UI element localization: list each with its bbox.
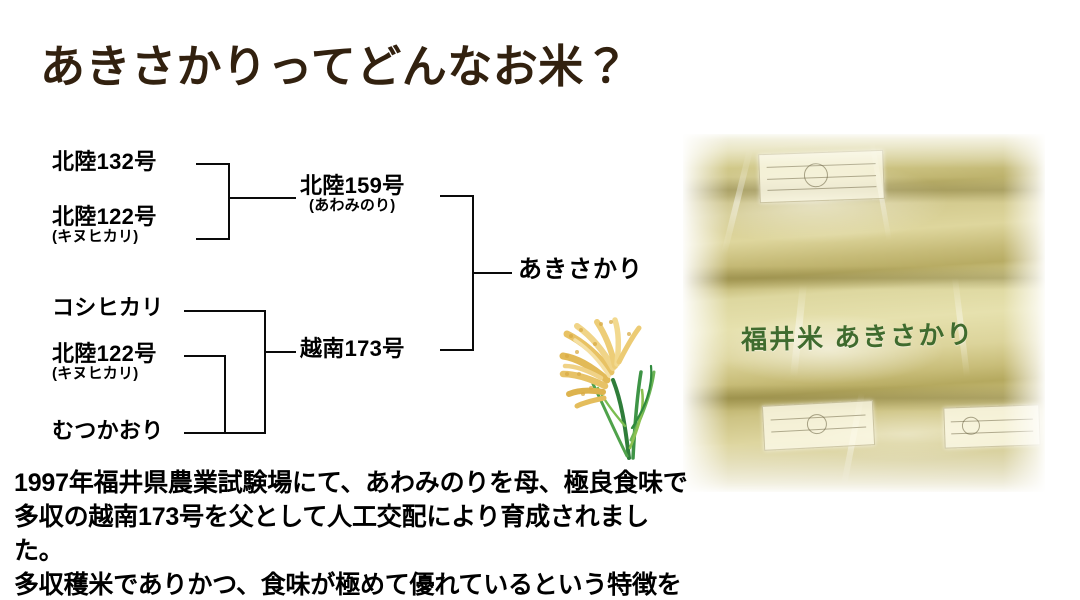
bracket2-spine	[224, 355, 226, 434]
pedigree-node-hokuriku122-bottom: 北陸122号 (キヌヒカリ)	[52, 342, 157, 382]
bracket2-arm-top	[184, 355, 226, 357]
description-text: 1997年福井県農業試験場にて、あわみのりを母、極良食味で 多収の越南173号を…	[14, 466, 694, 600]
bracket1-spine	[228, 163, 230, 240]
pedigree-node-hokuriku122-top: 北陸122号 (キヌヒカリ)	[52, 205, 157, 245]
node-name: 北陸122号	[52, 205, 157, 228]
bracket1-stem	[228, 197, 296, 199]
page-title: あきさかりってどんなお米？	[40, 42, 629, 92]
bag-seam	[683, 266, 1045, 290]
slide-root: あきさかりってどんなお米？ 北陸132号 北陸122号 (キヌヒカリ) コシヒカ…	[0, 0, 1080, 600]
node-name: 北陸159号	[300, 174, 405, 197]
bracket4-arm-top	[440, 195, 474, 197]
bracket1-arm-top	[196, 163, 230, 165]
description-line: 1997年福井県農業試験場にて、あわみのりを母、極良食味で	[14, 466, 694, 500]
description-line: 多収の越南173号を父として人工交配により育成されました。	[14, 500, 694, 568]
bracket4-stem	[472, 272, 512, 274]
node-name: コシヒカリ	[52, 296, 164, 319]
node-alias: (キヌヒカリ)	[52, 366, 157, 382]
bag-paper-label	[758, 150, 885, 203]
bracket2-arm-bottom	[184, 432, 226, 434]
bracket4-arm-bottom	[440, 349, 474, 351]
photo-image: 福井米 あきさかり	[683, 134, 1045, 492]
pedigree-node-hokuriku132: 北陸132号	[52, 150, 157, 173]
node-name: 北陸132号	[52, 150, 157, 173]
node-name: むつかおり	[52, 419, 164, 442]
rice-bags-photo: 福井米 あきさかり	[683, 134, 1045, 492]
node-alias: (キヌヒカリ)	[52, 229, 157, 245]
description-line: 多収穫米でありかつ、食味が極めて優れているという特徴を	[14, 568, 694, 600]
bag-paper-label	[943, 404, 1040, 449]
pedigree-node-etsunan173: 越南173号	[300, 337, 405, 360]
node-alias: (あわみのり)	[300, 198, 405, 214]
node-name: 越南173号	[300, 337, 405, 360]
bracket3-stem	[264, 351, 296, 353]
pedigree-node-hokuriku159: 北陸159号 (あわみのり)	[300, 174, 405, 214]
pedigree-node-koshihikari: コシヒカリ	[52, 296, 164, 319]
node-name: あきさかり	[518, 257, 643, 282]
pedigree-node-akisakari: あきさかり	[518, 257, 643, 282]
bracket3-spine	[264, 310, 266, 434]
node-name: 北陸122号	[52, 342, 157, 365]
rice-plant-icon	[541, 308, 673, 463]
bag-paper-label	[762, 400, 875, 451]
bracket1-arm-bottom	[196, 238, 230, 240]
bag-brand-text: 福井米 あきさかり	[740, 314, 974, 357]
bracket3-arm-top	[184, 310, 266, 312]
bracket2-stem	[224, 432, 264, 434]
pedigree-node-mutsukaori: むつかおり	[52, 419, 164, 442]
